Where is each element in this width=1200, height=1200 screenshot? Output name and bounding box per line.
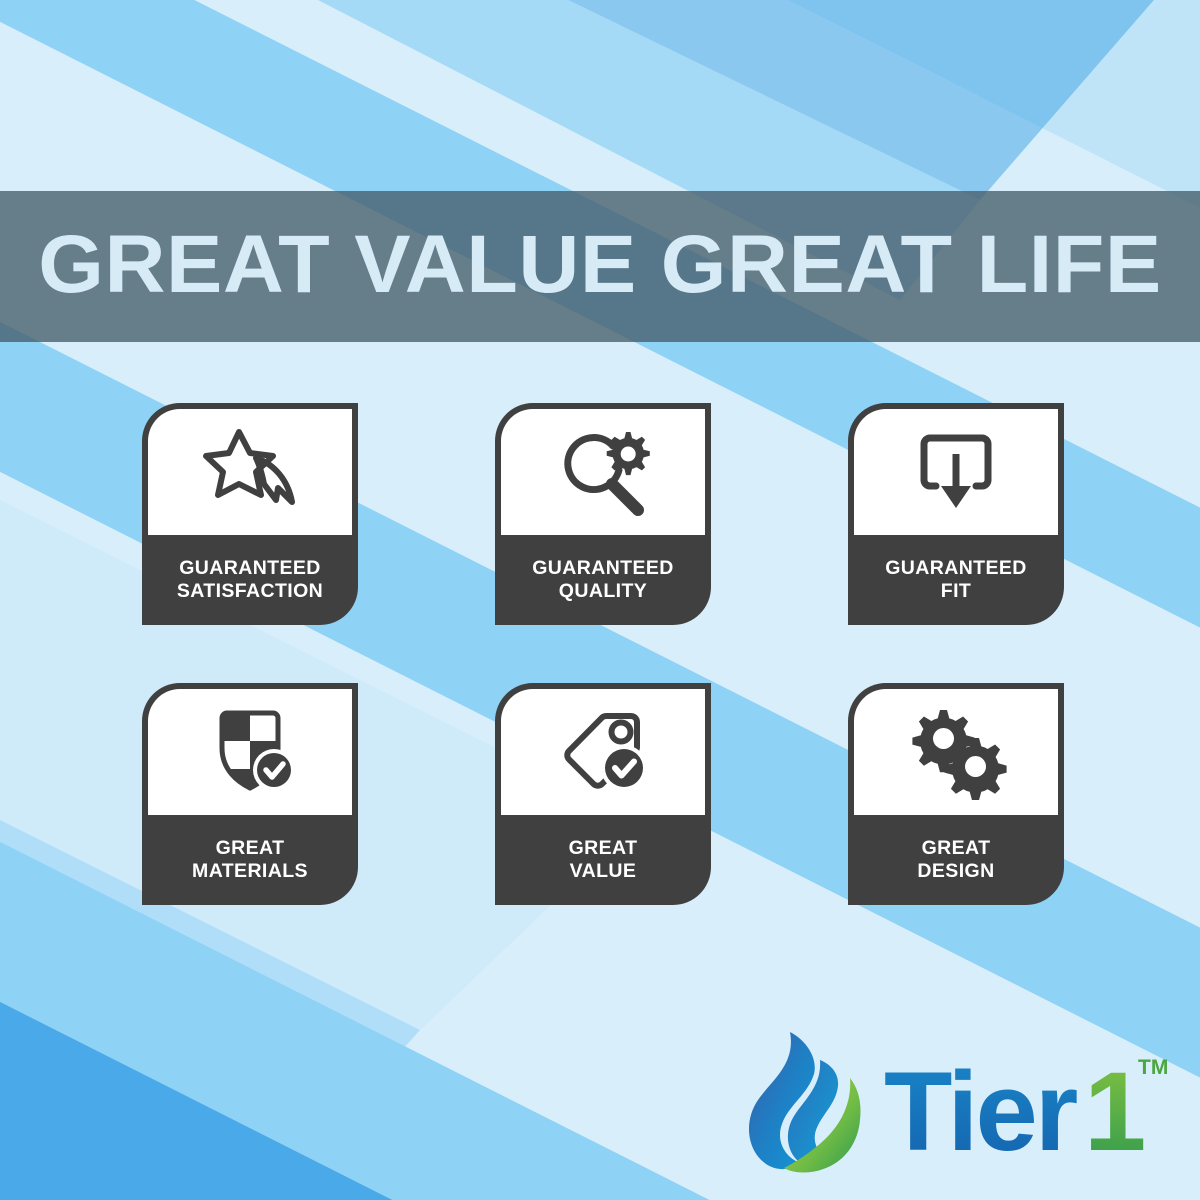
checkered-shield-check-icon xyxy=(198,704,302,800)
badge-label: GREAT MATERIALS xyxy=(142,815,358,905)
logo-wordmark-tier: Tier xyxy=(884,1049,1077,1174)
badge-label: GUARANTEED SATISFACTION xyxy=(142,535,358,625)
badge-label: GUARANTEED FIT xyxy=(848,535,1064,625)
badge-guaranteed-fit[interactable]: GUARANTEED FIT xyxy=(848,403,1064,625)
badge-icon-area xyxy=(854,689,1058,815)
badge-grid: GUARANTEED SATISFACTION GUARANTEED QUALI… xyxy=(0,0,1200,1200)
price-tag-check-icon xyxy=(551,704,655,800)
logo-wordmark-one: 1 xyxy=(1084,1049,1146,1174)
water-drop-leaf-mark xyxy=(749,1032,861,1173)
badge-label: GREAT VALUE xyxy=(495,815,711,905)
badge-label: GUARANTEED QUALITY xyxy=(495,535,711,625)
download-fit-icon xyxy=(904,424,1008,520)
logo-trademark: TM xyxy=(1138,1056,1168,1079)
badge-icon-area xyxy=(148,409,352,535)
badge-icon-area xyxy=(148,689,352,815)
badge-guaranteed-satisfaction[interactable]: GUARANTEED SATISFACTION xyxy=(142,403,358,625)
badge-icon-area xyxy=(854,409,1058,535)
badge-icon-area xyxy=(501,689,705,815)
two-gears-icon xyxy=(904,704,1008,800)
magnifier-gear-icon xyxy=(551,424,655,520)
badge-great-value[interactable]: GREAT VALUE xyxy=(495,683,711,905)
shooting-star-icon xyxy=(198,424,302,520)
tier1-logo[interactable]: Tier 1 TM xyxy=(726,1022,1176,1192)
badge-label: GREAT DESIGN xyxy=(848,815,1064,905)
badge-great-design[interactable]: GREAT DESIGN xyxy=(848,683,1064,905)
badge-icon-area xyxy=(501,409,705,535)
badge-guaranteed-quality[interactable]: GUARANTEED QUALITY xyxy=(495,403,711,625)
badge-great-materials[interactable]: GREAT MATERIALS xyxy=(142,683,358,905)
